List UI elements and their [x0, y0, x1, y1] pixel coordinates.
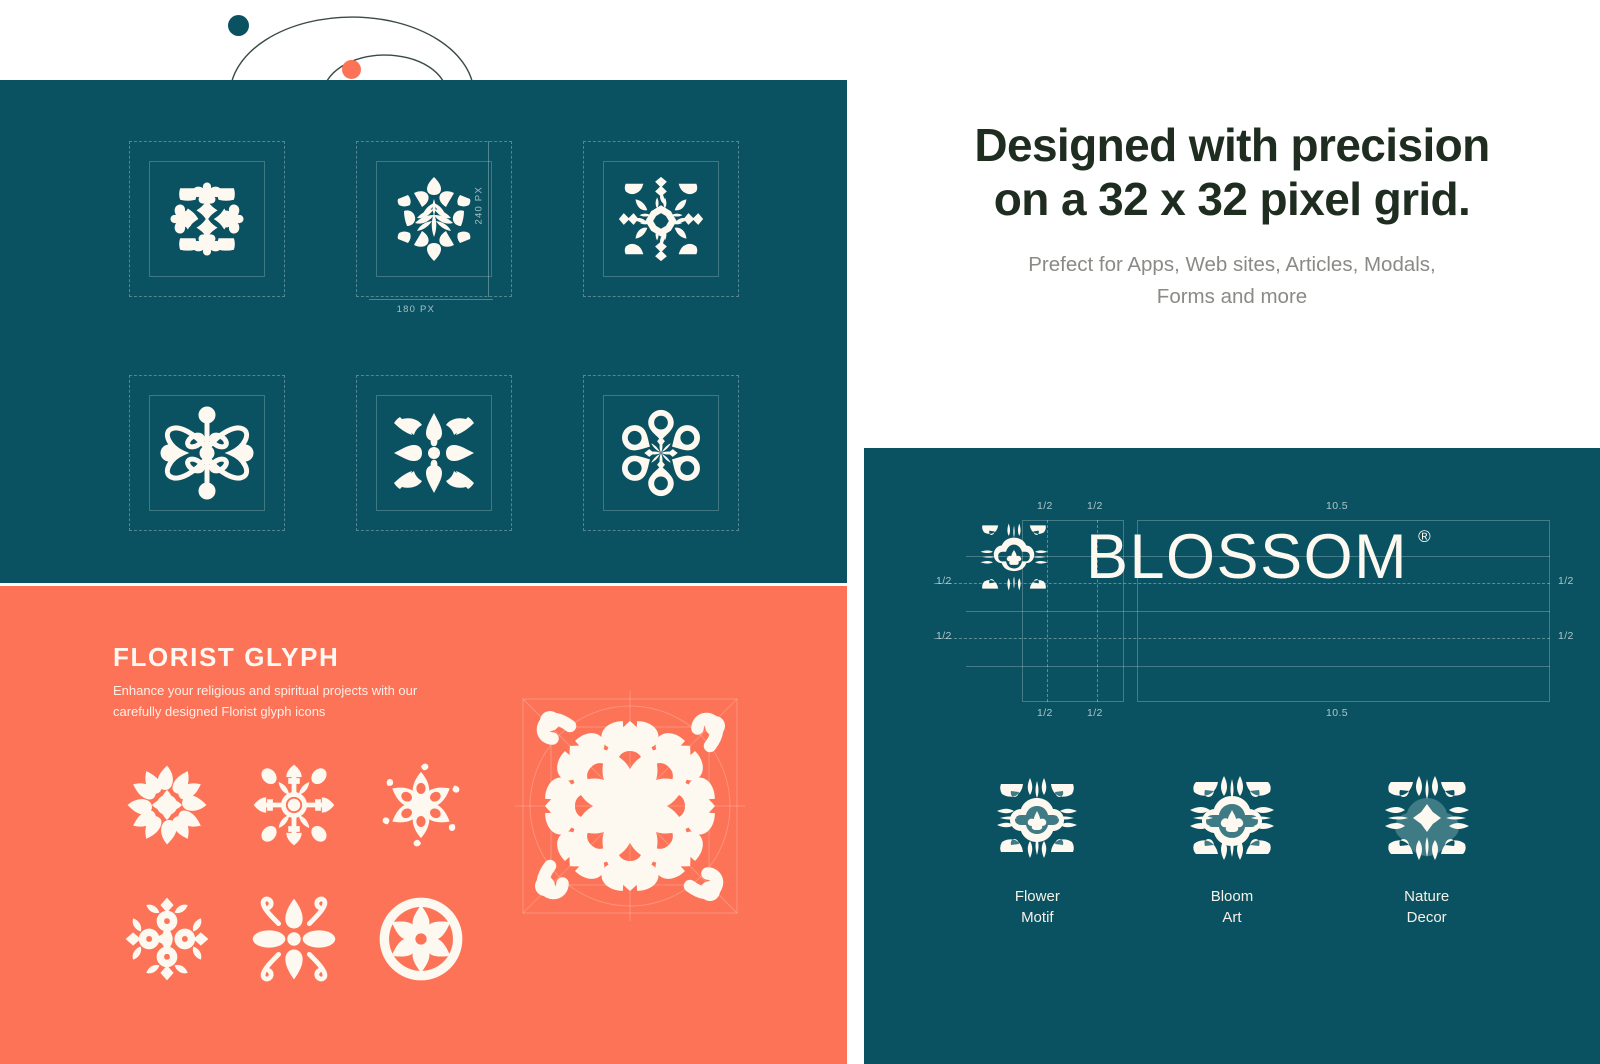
- icon-cell[interactable]: [357, 875, 484, 1003]
- icon-cell[interactable]: [104, 741, 231, 869]
- icon-cell[interactable]: [104, 875, 231, 1003]
- brand-icon-label-line2: Decor: [1404, 907, 1449, 928]
- logo-lockup[interactable]: BLOSSOM®: [970, 513, 1408, 601]
- guide-label-left-lower: 1/2: [936, 630, 952, 642]
- vine-curl-glyph: [246, 891, 342, 987]
- quatrefoil-tile-glyph: [612, 170, 710, 268]
- icon-spec-panel: 240 PX 180 PX: [0, 80, 847, 583]
- brand-logo-panel: 1/2 1/2 10.5 1/2 1/2 1/2 1/2 1/2 1/2 10.…: [864, 448, 1600, 1064]
- bloom-art-glyph: [1182, 768, 1282, 868]
- guide-line-midline: [966, 611, 1550, 612]
- nature-decor-glyph: [1377, 768, 1477, 868]
- top-dot-teal-decoration: [228, 15, 249, 36]
- guide-label-top-left: 1/2: [1037, 500, 1053, 512]
- mandala-star-glyph: [120, 892, 214, 986]
- florist-glyph-description: Enhance your religious and spiritual pro…: [113, 680, 443, 722]
- guide-label-bottom-left: 1/2: [1037, 707, 1053, 719]
- ornamental-tile-glyph: [159, 171, 255, 267]
- tulip-wheel-glyph: [246, 757, 342, 853]
- headline-line-2: on a 32 x 32 pixel grid.: [864, 172, 1600, 226]
- brand-icon-row: Flower Motif: [940, 768, 1524, 929]
- icon-spec-grid: 240 PX 180 PX: [94, 124, 774, 548]
- flower-motif-glyph: [987, 768, 1087, 868]
- guide-dash-horizontal-lower: [934, 638, 1550, 639]
- icon-cell[interactable]: [547, 358, 774, 548]
- guide-label-right-upper: 1/2: [1558, 575, 1574, 587]
- brand-icon-label-line1: Nature: [1404, 886, 1449, 907]
- icon-cell[interactable]: [231, 875, 358, 1003]
- icon-cell[interactable]: [94, 358, 321, 548]
- icon-cell[interactable]: [231, 741, 358, 869]
- brand-icon-label: Nature Decor: [1404, 886, 1449, 929]
- guide-line-baseline: [966, 666, 1550, 667]
- subheadline-line-2: Forms and more: [954, 281, 1510, 314]
- florist-glyph-panel: FLORIST GLYPH Enhance your religious and…: [0, 586, 847, 1064]
- dimension-label-width: 180 PX: [397, 304, 435, 315]
- brand-icon-label-line1: Flower: [1015, 886, 1060, 907]
- florist-glyph-title: FLORIST GLYPH: [113, 642, 339, 673]
- dimension-line-horizontal: [369, 299, 493, 300]
- headline-block: Designed with precision on a 32 x 32 pix…: [864, 118, 1600, 314]
- brand-icon-label-line2: Motif: [1015, 907, 1060, 928]
- guide-label-right-lower: 1/2: [1558, 630, 1574, 642]
- brand-icon-label-line2: Art: [1211, 907, 1254, 928]
- top-dot-coral-decoration: [342, 60, 361, 79]
- blossom-wordmark-text: BLOSSOM: [1086, 522, 1408, 592]
- subheadline-line-1: Prefect for Apps, Web sites, Articles, M…: [954, 249, 1510, 282]
- guide-label-bottom-right: 1/2: [1087, 707, 1103, 719]
- medallion-rosette-glyph: [384, 169, 484, 269]
- rosette-ring-glyph: [374, 892, 468, 986]
- brand-icon-item[interactable]: Flower Motif: [940, 768, 1135, 929]
- registered-mark: ®: [1418, 528, 1432, 545]
- dimension-line-vertical: [488, 141, 489, 297]
- lotus-eye-glyph: [375, 759, 467, 851]
- icon-cell[interactable]: [547, 124, 774, 314]
- guide-label-top-right: 1/2: [1087, 500, 1103, 512]
- dahlia-burst-glyph: [120, 758, 214, 852]
- hexagonal-snowflake-glyph: [612, 404, 710, 502]
- guide-label-bottom-wide: 10.5: [1326, 707, 1348, 719]
- icon-cell[interactable]: 240 PX 180 PX: [321, 124, 548, 314]
- brand-icon-label-line1: Bloom: [1211, 886, 1254, 907]
- icon-cell[interactable]: [321, 358, 548, 548]
- butterfly-bloom-glyph: [157, 403, 257, 503]
- brand-icon-item[interactable]: Nature Decor: [1329, 768, 1524, 929]
- brand-icon-label: Bloom Art: [1211, 886, 1254, 929]
- headline-line-1: Designed with precision: [864, 118, 1600, 172]
- brand-icon-item[interactable]: Bloom Art: [1135, 768, 1330, 929]
- florist-mandala-hero: [505, 681, 755, 931]
- blossom-symbol-glyph: [970, 513, 1058, 601]
- blossom-wordmark: BLOSSOM®: [1086, 526, 1408, 589]
- guide-label-top-wide: 10.5: [1326, 500, 1348, 512]
- subheadline-block: Prefect for Apps, Web sites, Articles, M…: [864, 249, 1600, 315]
- florist-icon-grid: [104, 741, 484, 1003]
- star-petal-tile-glyph: [384, 403, 484, 503]
- presentation-stage: 240 PX 180 PX: [0, 0, 1600, 1064]
- florist-hero-showcase[interactable]: [505, 681, 755, 931]
- brand-icon-label: Flower Motif: [1015, 886, 1060, 929]
- headline-panel: Designed with precision on a 32 x 32 pix…: [864, 0, 1600, 448]
- icon-cell[interactable]: [357, 741, 484, 869]
- icon-cell[interactable]: [94, 124, 321, 314]
- guide-label-left-upper: 1/2: [936, 575, 952, 587]
